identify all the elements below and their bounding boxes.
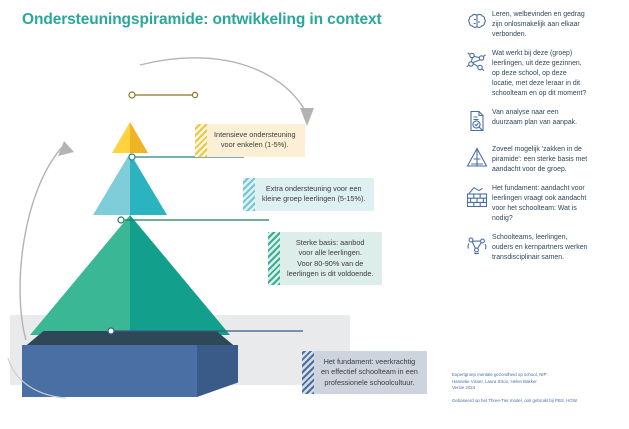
callout-foundation: Het fundament: veerkrachtig en effectief… [302, 351, 427, 394]
connector-dot-foundation [108, 328, 114, 334]
pyramid-icon [462, 143, 492, 173]
callout-tier-2-line-1: Extra ondersteuning voor een [262, 184, 365, 194]
page-title: Ondersteuningspiramide: ontwikkeling in … [22, 11, 382, 29]
footer-source-block: Expertgroep mentale gezondheid op school… [452, 372, 628, 392]
list-item: Wat werkt bij deze (groep) leerlingen, u… [462, 47, 629, 99]
list-item-line-1: Van analyse naar een [492, 108, 629, 118]
list-item: Van analyse naar een duurzaam plan van a… [462, 106, 629, 136]
list-item-text: Het fundament: aandacht voor leerlingen … [492, 182, 629, 224]
list-item-text: Schoolteams, leerlingen, ouders en kernp… [492, 231, 629, 263]
callout-tier-3-hatch [195, 124, 207, 157]
footer-credits: Expertgroep mentale gezondheid op school… [452, 372, 628, 404]
callout-tier-1-line-2: voor alle leerlingen. [287, 248, 373, 258]
callout-tier-1-hatch [268, 232, 280, 285]
principles-list: Leren, welbevinden en gedrag zijn onlosm… [462, 8, 629, 270]
list-item-line-1: Zoveel mogelijk 'zakken in de [492, 145, 629, 155]
list-item: Het fundament: aandacht voor leerlingen … [462, 182, 629, 224]
brain-icon [462, 8, 492, 38]
list-item: Schoolteams, leerlingen, ouders en kernp… [462, 231, 629, 263]
connector-dot-tier1 [118, 217, 124, 223]
list-item-line-4: nodig? [492, 214, 629, 224]
callout-tier-3: Intensieve ondersteuning voor enkelen (1… [195, 124, 305, 157]
callout-tier-3-line-1: Intensieve ondersteuning [214, 130, 296, 140]
people-network-icon [462, 231, 492, 261]
list-item-line-2: ouders en kernpartners werken [492, 243, 629, 253]
list-item-line-4: locatie, met deze leraar in dit [492, 79, 629, 89]
footer-line-3: Versie 2024 [452, 385, 628, 392]
callout-tier-3-body: Intensieve ondersteuning voor enkelen (1… [207, 124, 305, 157]
list-item-line-2: piramide': een sterke basis met [492, 155, 629, 165]
pyramid-diagram: Intensieve ondersteuning voor enkelen (1… [0, 40, 448, 429]
list-item: Zoveel mogelijk 'zakken in de piramide':… [462, 143, 629, 175]
connector-dot-tier2 [129, 154, 135, 160]
footer-line-1: Expertgroep mentale gezondheid op school… [452, 372, 628, 379]
list-item-line-3: voor het schoolteam: Wat is [492, 204, 629, 214]
callout-tier-1: Sterke basis: aanbod voor alle leerlinge… [268, 232, 382, 285]
callout-foundation-line-1: Het fundament: veerkrachtig [321, 357, 418, 367]
list-item-line-3: transdisciplinair samen. [492, 253, 629, 263]
document-magnifier-icon [462, 106, 492, 136]
callout-tier-2-line-2: kleine groep leerlingen (5-15%). [262, 194, 365, 204]
list-item-text: Leren, welbevinden en gedrag zijn onlosm… [492, 8, 629, 40]
list-item-line-2: leerlingen vraagt ook aandacht [492, 194, 629, 204]
callout-tier-3-line-2: voor enkelen (1-5%). [214, 140, 296, 150]
callout-tier-1-line-4: leerlingen is dit voldoende. [287, 269, 373, 279]
callout-foundation-hatch [302, 351, 314, 394]
callout-tier-2-hatch [243, 178, 255, 211]
footer-model-block: Gebaseerd op het Three-Tier model, ook g… [452, 398, 628, 405]
list-item-text: Wat werkt bij deze (groep) leerlingen, u… [492, 47, 629, 99]
puzzle-network-icon [462, 47, 492, 77]
callout-foundation-line-3: professionele schoolcultuur. [321, 378, 418, 388]
list-item-line-1: Het fundament: aandacht voor [492, 184, 629, 194]
list-item-line-5: schoolteam en op dit moment? [492, 89, 629, 99]
callout-tier-1-line-3: Voor 80-90% van de [287, 259, 373, 269]
footer-line-4: Gebaseerd op het Three-Tier model, ook g… [452, 398, 628, 405]
list-item-line-1: Leren, welbevinden en gedrag [492, 10, 629, 20]
list-item-line-2: zijn onlosmakelijk aan elkaar [492, 20, 629, 30]
footer-line-2: Hanneke Visser, Laura Stroo, Helen Bakke… [452, 379, 628, 386]
callout-foundation-line-2: en effectief schoolteam in een [321, 367, 418, 377]
list-item-line-1: Schoolteams, leerlingen, [492, 233, 629, 243]
connector-dot-tier3 [129, 92, 135, 98]
callout-tier-2-body: Extra ondersteuning voor een kleine groe… [255, 178, 374, 211]
callout-tier-2: Extra ondersteuning voor een kleine groe… [243, 178, 374, 211]
list-item-text: Zoveel mogelijk 'zakken in de piramide':… [492, 143, 629, 175]
list-item-line-1: Wat werkt bij deze (groep) [492, 49, 629, 59]
list-item-line-2: leerlingen, uit deze gezinnen, [492, 59, 629, 69]
list-item-line-2: duurzaam plan van aanpak. [492, 118, 629, 128]
list-item-line-3: aandacht voor de groep. [492, 165, 629, 175]
list-item: Leren, welbevinden en gedrag zijn onlosm… [462, 8, 629, 40]
callout-tier-1-body: Sterke basis: aanbod voor alle leerlinge… [280, 232, 382, 285]
callout-tier-1-line-1: Sterke basis: aanbod [287, 238, 373, 248]
brick-wall-icon [462, 182, 492, 212]
list-item-line-3: op deze school, op deze [492, 69, 629, 79]
connector-endpoint-tier3 [192, 92, 197, 97]
list-item-line-3: verbonden. [492, 30, 629, 40]
callout-foundation-body: Het fundament: veerkrachtig en effectief… [314, 351, 427, 394]
list-item-text: Van analyse naar een duurzaam plan van a… [492, 106, 629, 128]
